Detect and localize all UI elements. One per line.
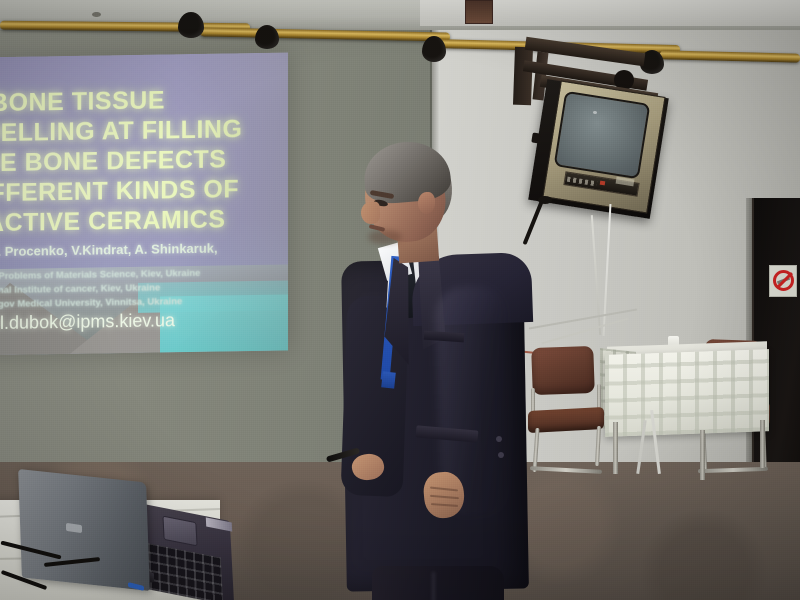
tv-wall-plate [513,47,533,106]
trousers [372,566,504,600]
slide-affiliation: onal Institute of cancer, Kiev, Ukraine [0,282,160,296]
curtain-rod-bracket [178,12,204,38]
conference-photo: BONE TISSUE DELLING AT FILLING GE BONE D… [0,0,800,600]
jacket-button [496,436,502,442]
jacket-button [498,452,504,458]
laptop-lid[interactable] [18,469,150,591]
nose [360,201,380,224]
tv-screen [554,91,651,180]
table-leg [700,430,705,480]
slide-affiliation: ogov Medical University, Vinnitsa, Ukrai… [0,296,182,310]
tv-power-led [600,181,606,186]
ear [418,192,435,214]
slide-title-line: DELLING AT FILLING [0,115,242,148]
chin-shadow [368,230,402,244]
slide-affiliation: r Problems of Materials Science, Kiev, U… [0,268,200,282]
trouser-crease [432,572,435,600]
projection-screen: BONE TISSUE DELLING AT FILLING GE BONE D… [0,52,288,357]
tablecloth [605,349,769,437]
name-badge [381,371,396,388]
table-leg [613,422,618,474]
table-leg [760,420,765,468]
chair-backrest[interactable] [531,346,595,395]
slide-title-line: IFFERENT KINDS OF [0,175,239,208]
curtain-rod-bracket [255,25,279,49]
wall-plaque [465,0,493,24]
ceiling-mark [92,12,101,17]
slide-email: ail.dubok@ipms.kiev.ua [0,310,175,334]
slide-title-line: BONE TISSUE [0,86,165,118]
slide-title-line: GE BONE DEFECTS [0,145,226,178]
curtain-rod-bracket [422,36,446,62]
no-smoking-sign [769,265,797,297]
slide-authors: V. Procenko, V.Kindrat, A. Shinkaruk, [0,241,218,260]
slide-title-line: ACTIVE CERAMICS [0,205,225,238]
slide-text-block: BONE TISSUE DELLING AT FILLING GE BONE D… [0,52,288,357]
presenter [320,136,540,600]
